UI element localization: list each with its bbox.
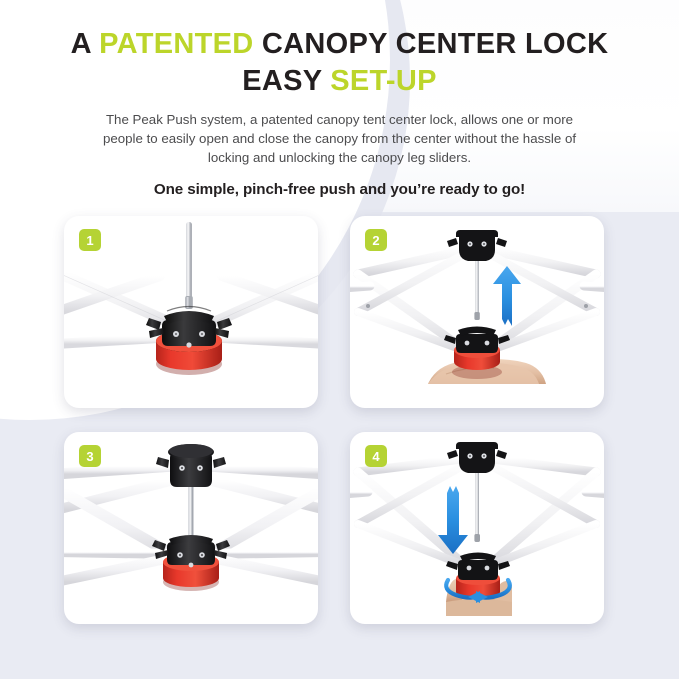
illustration-step-1	[64, 216, 318, 408]
steps-grid: 1	[64, 216, 616, 628]
step-badge-1: 1	[79, 229, 101, 251]
subheading-text: One simple, pinch-free push and you’re r…	[60, 181, 620, 198]
description-paragraph: The Peak Push system, a patented canopy …	[90, 111, 590, 168]
title-text-easy: EASY	[242, 65, 330, 97]
title-text-canopy-center-lock: CANOPY CENTER LOCK	[254, 28, 609, 60]
step-badge-2: 2	[365, 229, 387, 251]
illustration-step-3	[64, 432, 318, 624]
panel-step-2: 2	[350, 216, 604, 408]
page-title-line2: EASY SET-UP	[0, 64, 679, 100]
panel-step-4: 4	[350, 432, 604, 624]
header: A PATENTED CANOPY CENTER LOCK EASY SET-U…	[0, 0, 679, 198]
title-highlight-setup: SET-UP	[330, 65, 437, 97]
page-title: A PATENTED CANOPY CENTER LOCK EASY SET-U…	[0, 0, 679, 99]
arrow-up-shape	[493, 266, 521, 326]
title-text-a: A	[71, 28, 100, 60]
panel-step-1: 1	[64, 216, 318, 408]
illustration-step-2	[350, 216, 604, 408]
title-highlight-patented: PATENTED	[99, 28, 253, 60]
illustration-step-4	[350, 432, 604, 624]
step-badge-3: 3	[79, 445, 101, 467]
panel-step-3: 3	[64, 432, 318, 624]
step-badge-4: 4	[365, 445, 387, 467]
